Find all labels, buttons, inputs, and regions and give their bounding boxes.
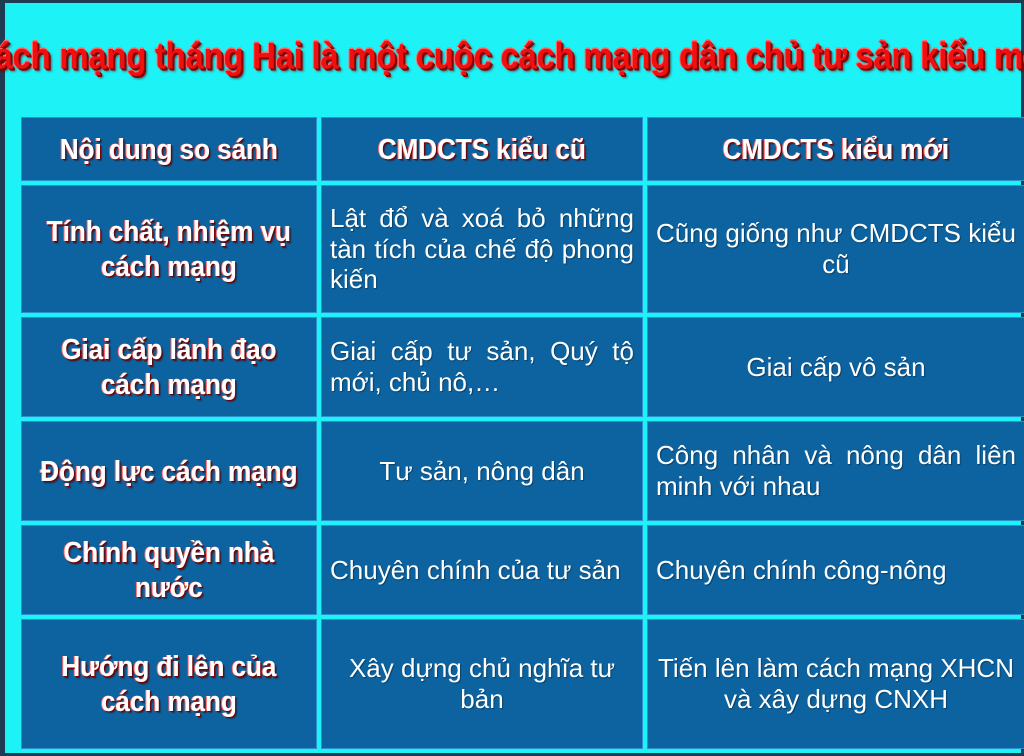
row-new-cell: Tiến lên làm cách mạng XHCN và xây dựng … bbox=[647, 619, 1024, 749]
table-row: Chính quyền nhà nước Chuyên chính của tư… bbox=[21, 525, 1024, 615]
column-header-criteria-label: Nội dung so sánh bbox=[60, 132, 278, 166]
column-header-new-type: CMDCTS kiểu mới bbox=[647, 117, 1024, 181]
slide-title-bar: Cách mạng tháng Hai là một cuộc cách mạn… bbox=[5, 3, 1021, 108]
comparison-table-wrapper: Nội dung so sánh CMDCTS kiểu cũ CMDCTS k… bbox=[17, 113, 1017, 753]
column-header-new-type-label: CMDCTS kiểu mới bbox=[723, 132, 950, 166]
row-label-text: Chính quyền nhà nước bbox=[30, 536, 308, 605]
row-label-text: Tính chất, nhiệm vụ cách mạng bbox=[30, 215, 308, 284]
row-label-cell: Giai cấp lãnh đạo cách mạng bbox=[21, 317, 317, 417]
row-old-cell: Tư sản, nông dân bbox=[321, 421, 643, 521]
comparison-table: Nội dung so sánh CMDCTS kiểu cũ CMDCTS k… bbox=[17, 113, 1024, 753]
slide-frame: Cách mạng tháng Hai là một cuộc cách mạn… bbox=[0, 0, 1024, 756]
row-label-cell: Tính chất, nhiệm vụ cách mạng bbox=[21, 185, 317, 313]
column-header-criteria: Nội dung so sánh bbox=[21, 117, 317, 181]
page-title: Cách mạng tháng Hai là một cuộc cách mạn… bbox=[0, 34, 1024, 77]
row-old-cell: Chuyên chính của tư sản bbox=[321, 525, 643, 615]
row-label-cell: Chính quyền nhà nước bbox=[21, 525, 317, 615]
row-label-text: Động lực cách mạng bbox=[40, 454, 297, 488]
column-header-old-type-label: CMDCTS kiểu cũ bbox=[378, 132, 586, 166]
row-new-cell: Cũng giống như CMDCTS kiểu cũ bbox=[647, 185, 1024, 313]
table-header-row: Nội dung so sánh CMDCTS kiểu cũ CMDCTS k… bbox=[21, 117, 1024, 181]
row-new-cell: Chuyên chính công-nông bbox=[647, 525, 1024, 615]
table-row: Hướng đi lên của cách mạng Xây dựng chủ … bbox=[21, 619, 1024, 749]
row-label-text: Giai cấp lãnh đạo cách mạng bbox=[30, 333, 308, 402]
row-old-cell: Xây dựng chủ nghĩa tư bản bbox=[321, 619, 643, 749]
table-row: Động lực cách mạng Tư sản, nông dân Công… bbox=[21, 421, 1024, 521]
row-old-cell: Lật đổ và xoá bỏ những tàn tích của chế … bbox=[321, 185, 643, 313]
row-old-cell: Giai cấp tư sản, Quý tộ mới, chủ nô,… bbox=[321, 317, 643, 417]
row-new-cell: Công nhân và nông dân liên minh với nhau bbox=[647, 421, 1024, 521]
row-new-cell: Giai cấp vô sản bbox=[647, 317, 1024, 417]
slide-canvas: Cách mạng tháng Hai là một cuộc cách mạn… bbox=[5, 3, 1021, 753]
row-label-cell: Động lực cách mạng bbox=[21, 421, 317, 521]
row-label-text: Hướng đi lên của cách mạng bbox=[30, 650, 308, 719]
column-header-old-type: CMDCTS kiểu cũ bbox=[321, 117, 643, 181]
table-row: Tính chất, nhiệm vụ cách mạng Lật đổ và … bbox=[21, 185, 1024, 313]
table-row: Giai cấp lãnh đạo cách mạng Giai cấp tư … bbox=[21, 317, 1024, 417]
row-label-cell: Hướng đi lên của cách mạng bbox=[21, 619, 317, 749]
